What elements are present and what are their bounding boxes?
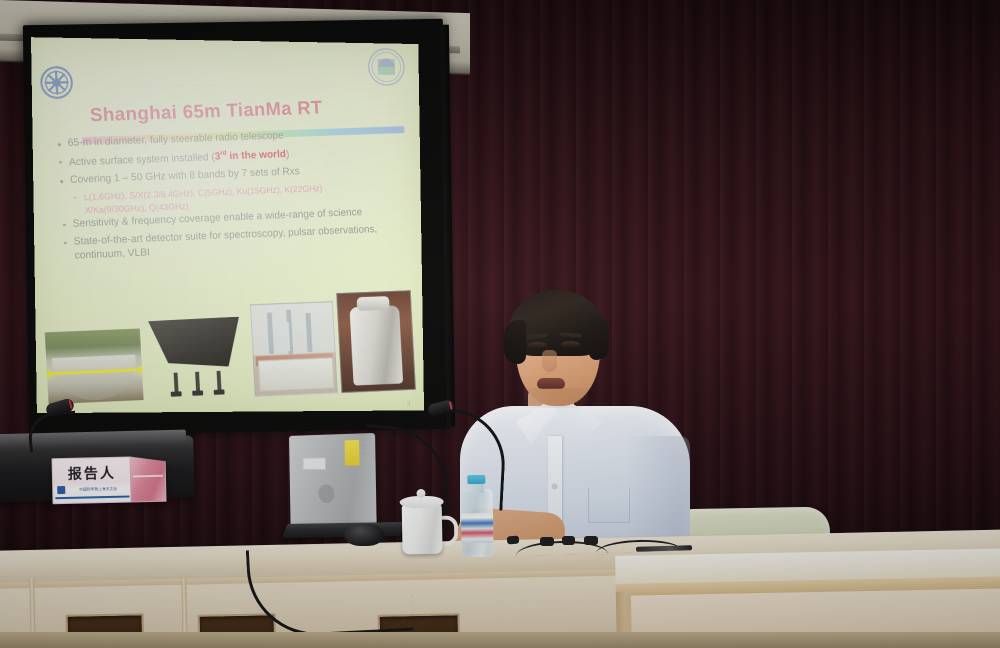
white-sticker: [302, 457, 325, 469]
cable-connector: [584, 536, 598, 545]
cryostat-cap: [357, 296, 390, 311]
slide-title: Shanghai 65m TianMa RT: [89, 98, 323, 127]
bottle-cap: [467, 475, 485, 484]
rack-rod: [306, 313, 313, 352]
telescope-dish-photo: [45, 329, 144, 405]
floor-strip: [0, 632, 1000, 648]
nameplate-institution: 中国科学院上海天文台: [69, 487, 127, 493]
nameplate: 报告人 中国科学院上海天文台: [52, 456, 165, 503]
mug-knob: [416, 489, 425, 498]
cryostat-photo: [336, 290, 416, 393]
rack-base-unit: [258, 357, 335, 392]
observatory-seal-logo: [367, 47, 406, 87]
chin-shadow: [524, 388, 588, 408]
nameplate-face: 报告人 中国科学院上海天文台: [52, 456, 133, 504]
shirt-button: [552, 484, 557, 489]
slide-figure-strip: [40, 296, 418, 406]
panel-leg: [217, 371, 222, 391]
panel-surface: [145, 317, 241, 370]
nameplate-rule: [55, 496, 129, 500]
hair: [508, 290, 606, 356]
slide-number: 3: [407, 401, 411, 408]
rack-module: [277, 322, 290, 352]
panel-foot: [214, 389, 225, 394]
panel-leg: [174, 373, 179, 393]
slide-bullet-list: 65-m in diameter, fully steerable radio …: [55, 125, 412, 268]
compass-wheel-logo: [39, 65, 75, 100]
eye-right: [561, 341, 580, 348]
cable-connector: [540, 537, 554, 546]
rack-rod: [267, 312, 274, 354]
receiver-rack-photo: [250, 301, 338, 397]
bullet-highlight: 3rd in the world: [214, 149, 286, 162]
gooseneck-mic-left: [22, 395, 82, 455]
mic-gooseneck: [26, 411, 79, 453]
nose: [542, 350, 557, 372]
bottle-label: [461, 513, 494, 544]
projection-screen: Shanghai 65m TianMa RT 65-m in diameter,…: [23, 19, 449, 436]
antenna-panel-diagram: [143, 309, 249, 400]
presentation-slide: Shanghai 65m TianMa RT 65-m in diameter,…: [31, 37, 424, 413]
institution-logo-icon: [57, 486, 65, 494]
plastic-water-bottle[interactable]: [460, 475, 493, 558]
cable-connector: [562, 536, 575, 545]
shirt-pocket: [588, 488, 630, 523]
nameplate-title: 报告人: [60, 463, 124, 484]
eye-left: [528, 342, 547, 349]
bullet-text-before: Active surface system installed (: [69, 152, 215, 168]
cable-connector: [507, 536, 520, 545]
panel-leg: [195, 372, 200, 392]
nameplate-side-panel: [129, 456, 166, 503]
photo-scene: Shanghai 65m TianMa RT 65-m in diameter,…: [0, 0, 1000, 648]
panel-foot: [171, 391, 182, 396]
bullet-text-after: ): [286, 149, 290, 160]
panel-foot: [192, 390, 203, 395]
cryostat-body: [349, 305, 403, 385]
